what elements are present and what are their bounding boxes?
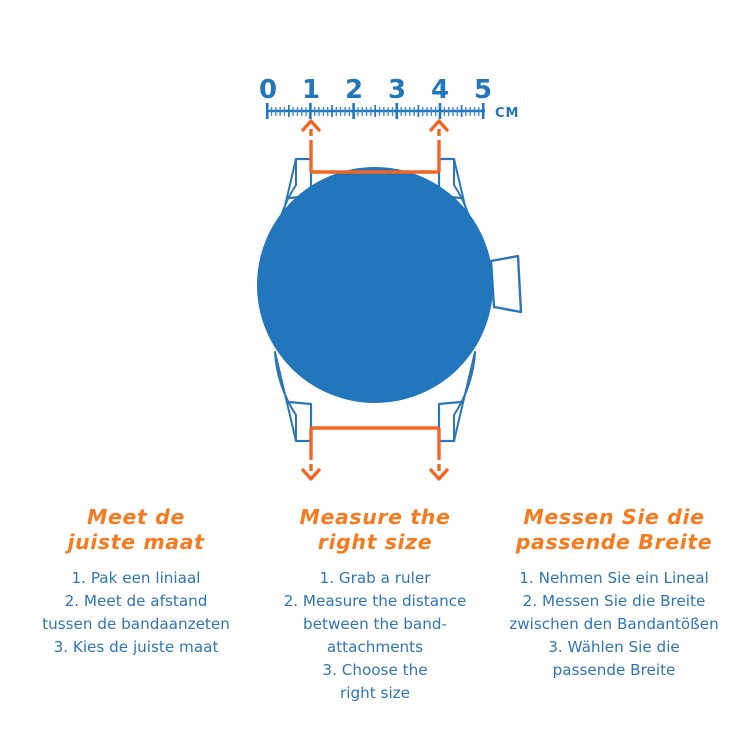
arrow-up-right-icon bbox=[431, 121, 447, 130]
instruction-column-dutch: Meet de juiste maat 1. Pak een liniaal 2… bbox=[18, 505, 254, 659]
ruler-tick-labels: 0 1 2 3 4 5 bbox=[259, 75, 492, 105]
ruler-label-4: 4 bbox=[431, 75, 449, 105]
ruler-label-2: 2 bbox=[345, 75, 363, 105]
watch-size-guide: 0 1 2 3 4 5 bbox=[0, 0, 750, 750]
column-steps-german: 1. Nehmen Sie ein Lineal 2. Messen Sie d… bbox=[496, 567, 732, 682]
watch-measurement-illustration: 0 1 2 3 4 5 bbox=[0, 0, 750, 500]
column-steps-english: 1. Grab a ruler 2. Measure the distance … bbox=[257, 567, 493, 705]
instruction-column-german: Messen Sie die passende Breite 1. Nehmen… bbox=[496, 505, 732, 682]
ruler-unit-label: CM bbox=[495, 106, 519, 121]
arrow-up-left-icon bbox=[303, 121, 319, 130]
ruler-group: 0 1 2 3 4 5 bbox=[259, 75, 520, 121]
watch-crown bbox=[491, 256, 521, 312]
instruction-columns: Meet de juiste maat 1. Pak een liniaal 2… bbox=[0, 505, 750, 750]
ruler-label-3: 3 bbox=[388, 75, 406, 105]
column-steps-dutch: 1. Pak een liniaal 2. Meet de afstand tu… bbox=[18, 567, 254, 659]
column-heading-english: Measure the right size bbox=[257, 505, 493, 555]
arrow-down-left-icon bbox=[303, 470, 319, 479]
watch-group bbox=[257, 159, 521, 441]
arrow-down-right-icon bbox=[431, 470, 447, 479]
instruction-column-english: Measure the right size 1. Grab a ruler 2… bbox=[257, 505, 493, 705]
ruler-label-1: 1 bbox=[302, 75, 320, 105]
column-heading-german: Messen Sie die passende Breite bbox=[496, 505, 732, 555]
ruler-label-5: 5 bbox=[474, 75, 492, 105]
ruler-label-0: 0 bbox=[259, 75, 277, 105]
column-heading-dutch: Meet de juiste maat bbox=[18, 505, 254, 555]
watch-dial bbox=[257, 167, 493, 403]
